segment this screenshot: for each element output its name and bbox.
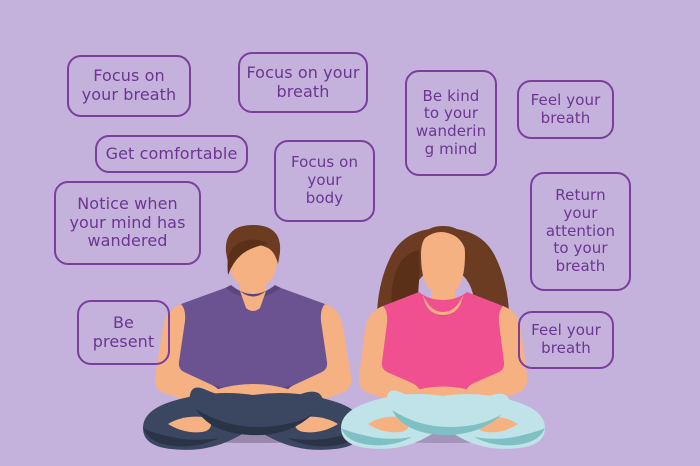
card-be-kind-to-your-wandering-mind[interactable]: Be kind to your wanderin g mind: [405, 70, 497, 176]
note-cards-layer: Focus on your breathFocus on your breath…: [0, 0, 700, 466]
meditation-tips-poster: Focus on your breathFocus on your breath…: [0, 0, 700, 466]
card-return-your-attention-to-your-breath[interactable]: Return your attention to your breath: [530, 172, 631, 291]
card-focus-on-your-body[interactable]: Focus on your body: [274, 140, 375, 222]
card-focus-on-your-breath-2[interactable]: Focus on your breath: [238, 52, 368, 113]
card-notice-when-your-mind-has-wandered[interactable]: Notice when your mind has wandered: [54, 181, 201, 265]
card-focus-on-your-breath-1[interactable]: Focus on your breath: [67, 55, 191, 117]
card-be-present[interactable]: Be present: [77, 300, 170, 365]
card-get-comfortable[interactable]: Get comfortable: [95, 135, 248, 173]
card-feel-your-breath-top[interactable]: Feel your breath: [517, 80, 614, 139]
card-feel-your-breath-bottom[interactable]: Feel your breath: [518, 311, 614, 369]
